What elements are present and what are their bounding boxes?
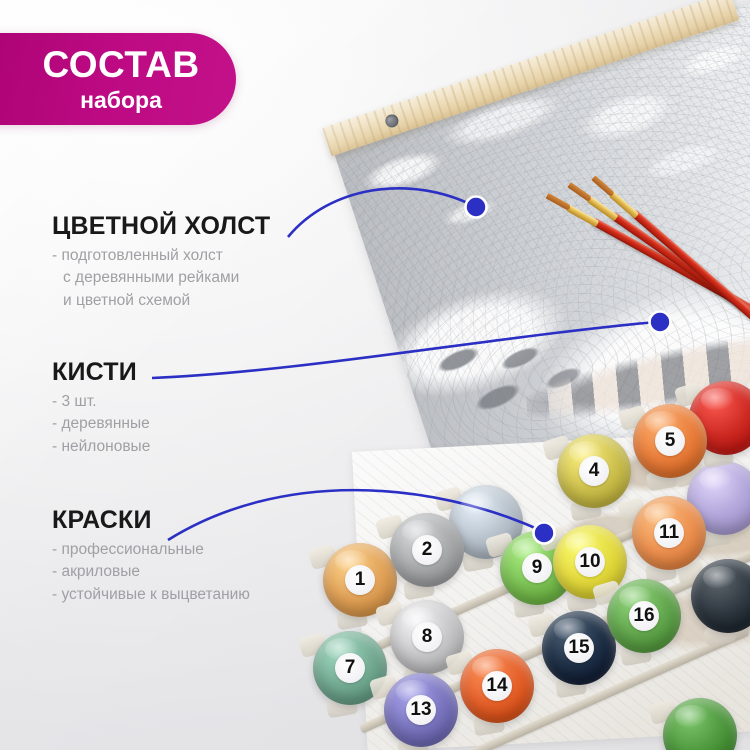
header-badge: СОСТАВ набора: [0, 33, 236, 125]
callout-paints-list: - профессиональные - акриловые - устойчи…: [52, 539, 250, 606]
callout-canvas-line-3: и цветной схемой: [52, 290, 270, 312]
callout-brushes-title: КИСТИ: [52, 360, 150, 385]
callout-paints-title: КРАСКИ: [52, 508, 250, 533]
callout-paints-line-3: - устойчивые к выцветанию: [52, 584, 250, 606]
paint-pot-4: 4: [557, 434, 631, 508]
pot-number: 14: [482, 671, 512, 701]
callout-brushes-line-2: - деревянные: [52, 413, 150, 435]
callout-paints-line-2: - акриловые: [52, 561, 250, 583]
pot-number: 4: [579, 456, 609, 486]
callout-brushes-line-3: - нейлоновые: [52, 436, 150, 458]
callout-brushes-list: - 3 шт. - деревянные - нейлоновые: [52, 391, 150, 458]
pot-number: 15: [564, 633, 594, 663]
badge-title-primary: СОСТАВ: [42, 46, 199, 83]
pot-number: 9: [522, 553, 552, 583]
callout-canvas-line-1: - подготовленный холст: [52, 245, 270, 267]
paint-pot-15: 15: [542, 611, 616, 685]
pot-number: 2: [412, 535, 442, 565]
callout-brushes: КИСТИ - 3 шт. - деревянные - нейлоновые: [52, 360, 150, 458]
pot-number: 11: [654, 518, 684, 548]
pot-number: 8: [412, 622, 442, 652]
callout-paints: КРАСКИ - профессиональные - акриловые - …: [52, 508, 250, 606]
paint-pot-11: 11: [632, 496, 706, 570]
callout-brushes-line-1: - 3 шт.: [52, 391, 150, 413]
pot-number: 1: [345, 565, 375, 595]
pot-number: 10: [575, 547, 605, 577]
pot-number: 13: [406, 695, 436, 725]
badge-title-secondary: набора: [80, 89, 162, 112]
callout-paints-line-1: - профессиональные: [52, 539, 250, 561]
callout-canvas-line-2: с деревянными рейками: [52, 267, 270, 289]
pot-number: 7: [335, 653, 365, 683]
paint-pot-13: 13: [384, 673, 458, 747]
rail-grommet: [384, 113, 400, 129]
paint-pot-14: 14: [460, 649, 534, 723]
paint-pot-5: 5: [633, 404, 707, 478]
paint-pot-16: 16: [607, 579, 681, 653]
pot-number: 16: [629, 601, 659, 631]
callout-canvas-title: ЦВЕТНОЙ ХОЛСТ: [52, 214, 270, 239]
callout-canvas: ЦВЕТНОЙ ХОЛСТ - подготовленный холст с д…: [52, 214, 270, 312]
product-infographic: 1245789101113141516 СОСТАВ набора ЦВЕТНО…: [0, 0, 750, 750]
callout-canvas-list: - подготовленный холст с деревянными рей…: [52, 245, 270, 312]
paint-pot-2: 2: [390, 513, 464, 587]
pot-number: 5: [655, 426, 685, 456]
